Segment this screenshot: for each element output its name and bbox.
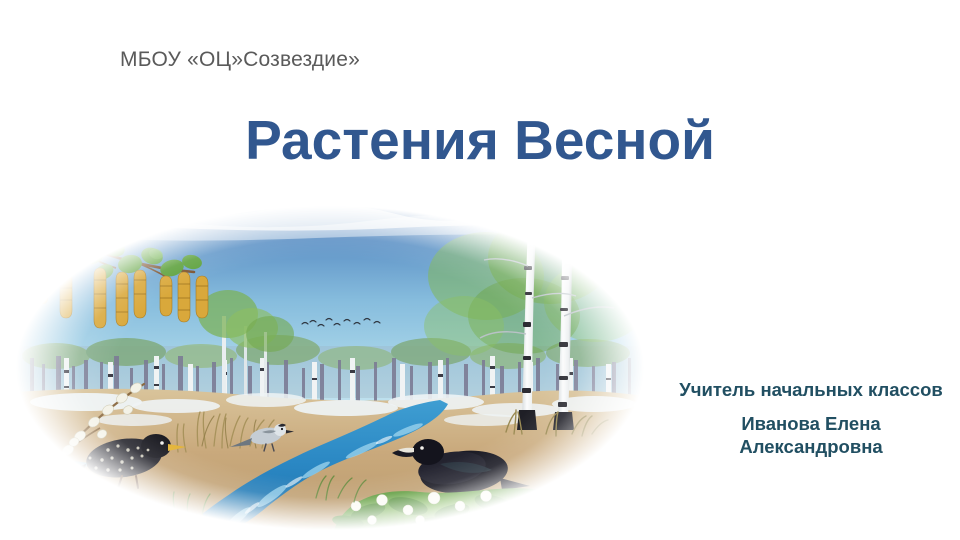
school-name-label: МБОУ «ОЦ»Созвездие»: [120, 48, 360, 72]
author-role-label: Учитель начальных классов: [672, 378, 950, 402]
author-name-label: Иванова Елена Александровна: [672, 412, 950, 459]
author-credit-block: Учитель начальных классов Иванова Елена …: [672, 378, 950, 459]
illustration-canvas: [16, 206, 644, 530]
spring-landscape-illustration: [16, 206, 644, 530]
landscape-artwork: [16, 206, 644, 530]
presentation-slide: МБОУ «ОЦ»Созвездие» Растения Весной Учит…: [0, 0, 960, 540]
page-title: Растения Весной: [0, 112, 960, 170]
